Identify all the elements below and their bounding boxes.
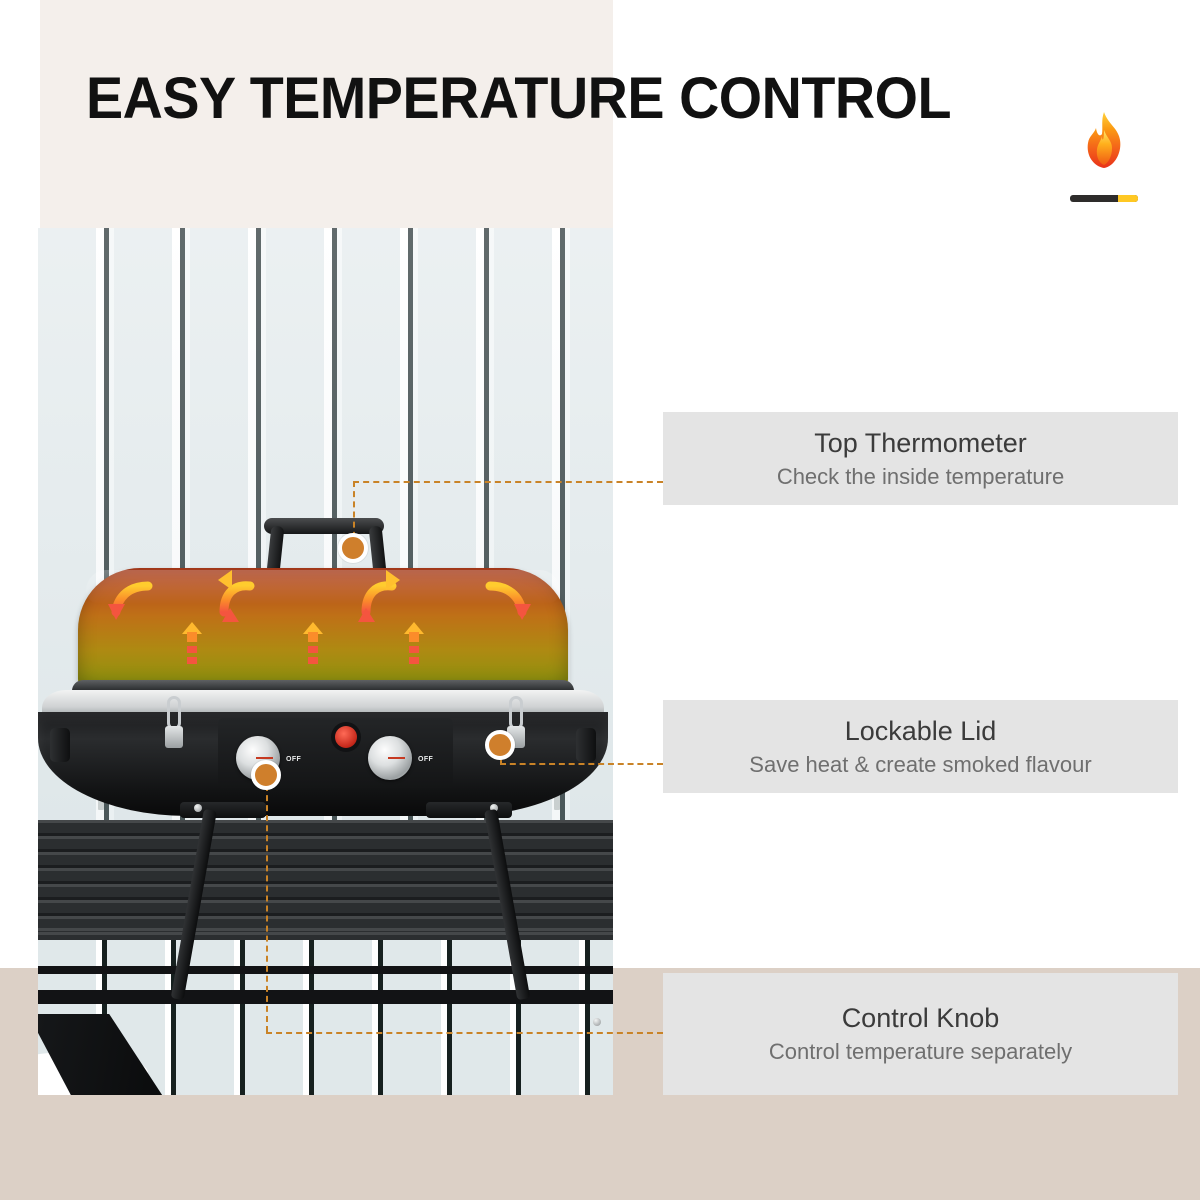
feature-title: Top Thermometer [814,426,1027,460]
heat-badge [1070,110,1140,220]
side-handle [576,728,596,762]
rivet [194,804,202,812]
knob-off-label: OFF [286,756,301,763]
heat-arrow-curved [108,586,148,620]
rivet [593,1018,601,1026]
feature-subtitle: Control temperature separately [769,1037,1072,1067]
feature-panel-top-thermometer[interactable]: Top Thermometer Check the inside tempera… [663,412,1178,505]
feature-subtitle: Save heat & create smoked flavour [749,750,1091,780]
heat-level-bar [1070,195,1138,202]
connector-line-3-vertical [266,775,268,1032]
knob-off-label: OFF [418,756,433,763]
connector-line-2-horizontal [500,763,663,765]
heat-arrow-rising [303,622,323,664]
feature-panel-lockable-lid[interactable]: Lockable Lid Save heat & create smoked f… [663,700,1178,793]
feature-title: Control Knob [842,1001,1000,1035]
page-title: EASY TEMPERATURE CONTROL [86,68,1046,130]
flame-icon [1080,110,1128,170]
heat-arrow-rising [404,622,424,664]
heat-arrow-curved [358,570,400,622]
grill-unit: OFF OFF [38,490,613,850]
marker-dot-lockable-lid[interactable] [485,730,515,760]
leg-bracket [180,802,266,818]
heat-arrow-curved [218,570,250,622]
heat-level-fill [1118,195,1138,202]
feature-subtitle: Check the inside temperature [777,462,1064,492]
heat-flow-arrows [78,568,568,696]
leg-bracket [426,802,512,818]
heat-arrow-rising [182,622,202,664]
feature-title: Lockable Lid [845,714,997,748]
product-photo: OFF OFF [38,228,613,1095]
marker-dot-top-thermometer[interactable] [338,533,368,563]
igniter-button[interactable] [335,726,357,748]
marker-dot-control-knob[interactable] [251,760,281,790]
heat-arrow-curved [490,586,531,620]
deck-rail [38,966,613,974]
left-margin [0,0,40,968]
side-handle [50,728,70,762]
deck-edge [38,928,613,932]
control-knob-right[interactable] [368,736,412,780]
connector-line-1-horizontal [353,481,663,483]
lid-latch[interactable] [164,696,184,750]
connector-line-3-horizontal [266,1032,663,1034]
feature-panel-control-knob[interactable]: Control Knob Control temperature separat… [663,973,1178,1095]
